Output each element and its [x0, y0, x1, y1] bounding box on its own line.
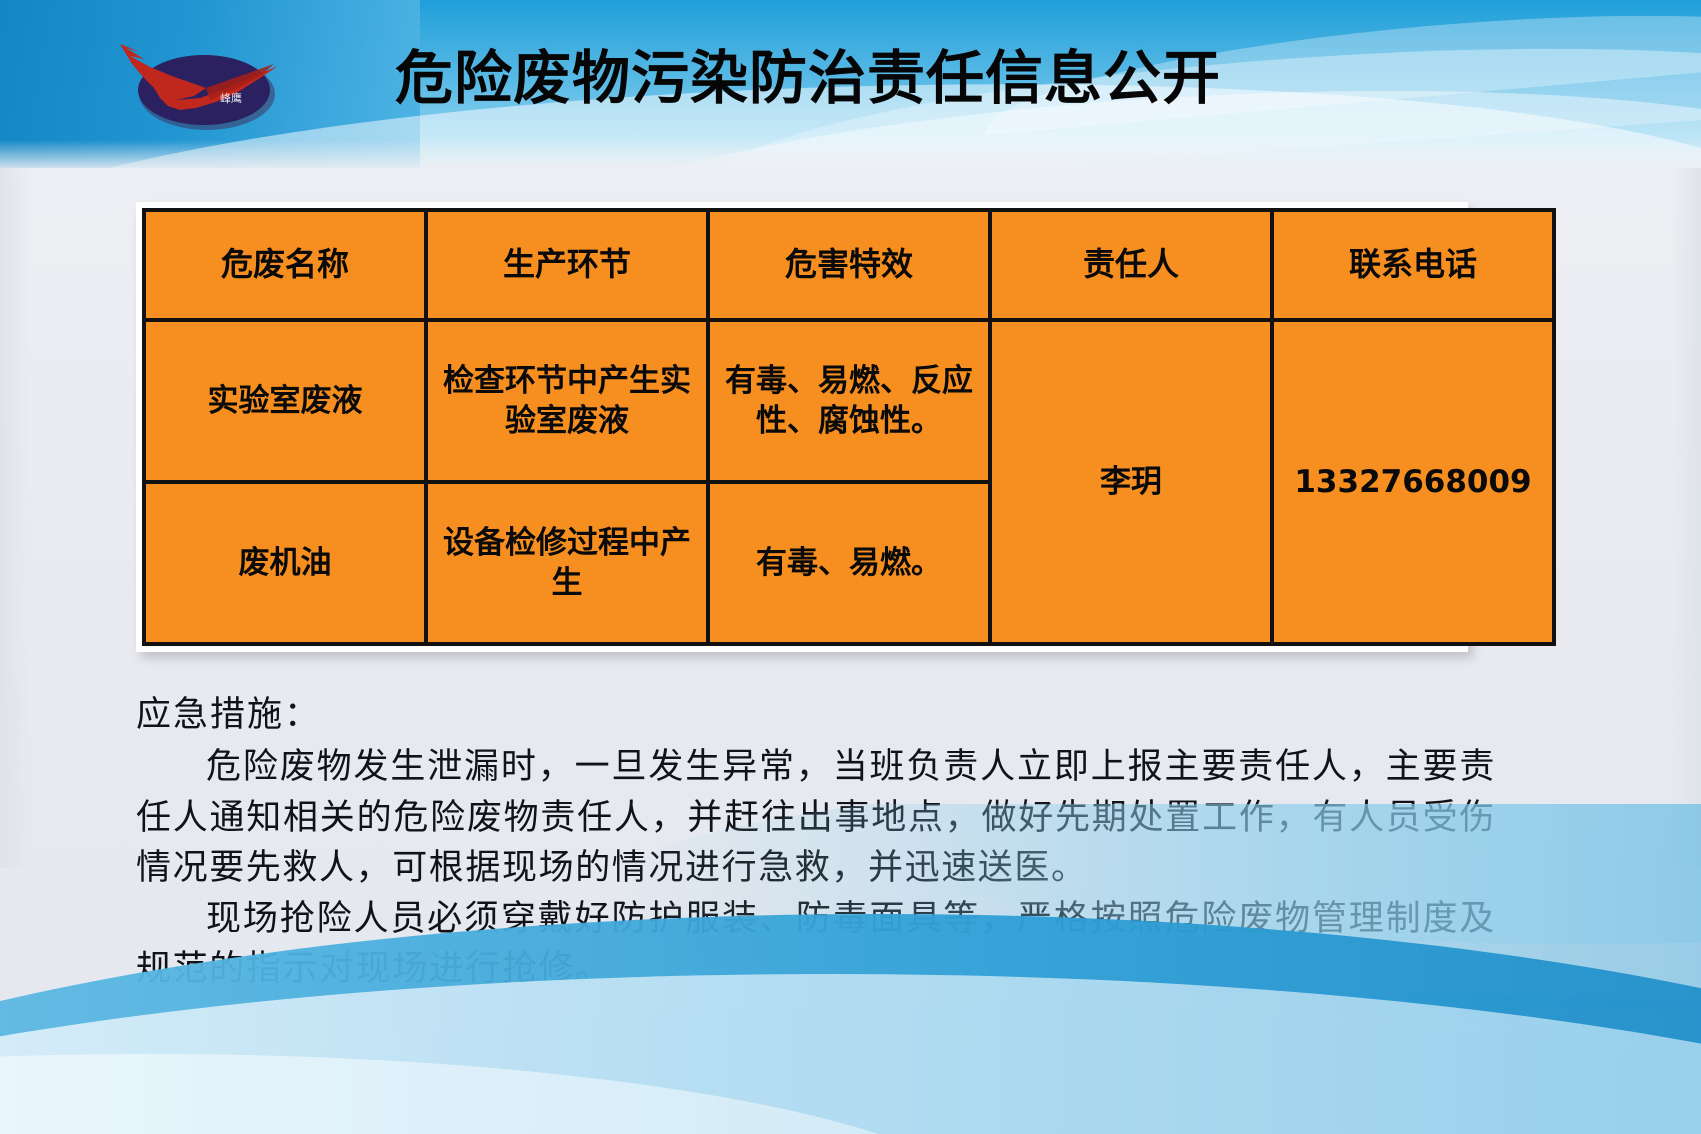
page-title: 危险废物污染防治责任信息公开 [395, 48, 1395, 109]
column-header-process: 生产环节 [426, 210, 708, 320]
cell-hazard-2: 有毒、易燃。 [708, 482, 990, 644]
slide-canvas: 峰鹰 危险废物污染防治责任信息公开 危废名称 生产环节 危害特效 责任人 联系电… [0, 0, 1701, 1134]
waste-table-frame: 危废名称 生产环节 危害特效 责任人 联系电话 实验室废液 检查环节中产生实验室… [136, 202, 1468, 652]
emergency-measures-label: 应急措施： [136, 690, 1496, 740]
footer-wave-f [0, 1054, 1000, 1134]
footer-wave-e [520, 994, 1701, 1134]
cell-person: 李玥 [990, 320, 1272, 644]
cell-hazard-1: 有毒、易燃、反应性、腐蚀性。 [708, 320, 990, 482]
cell-waste-name-1: 实验室废液 [144, 320, 426, 482]
footer-wave-d [140, 1014, 1701, 1134]
footer-wave-b [0, 974, 1701, 1134]
hazardous-waste-table: 危废名称 生产环节 危害特效 责任人 联系电话 实验室废液 检查环节中产生实验室… [142, 208, 1556, 646]
cell-process-2: 设备检修过程中产生 [426, 482, 708, 644]
header-bottom-fade [0, 140, 1701, 168]
cell-phone: 13327668009 [1272, 320, 1554, 644]
emergency-measures-block: 应急措施： 危险废物发生泄漏时，一旦发生异常，当班负责人立即上报主要责任人，主要… [136, 690, 1496, 994]
cell-waste-name-2: 废机油 [144, 482, 426, 644]
page-edge-left [0, 168, 30, 868]
cell-process-1: 检查环节中产生实验室废液 [426, 320, 708, 482]
eagle-logo: 峰鹰 [110, 22, 310, 140]
column-header-hazard: 危害特效 [708, 210, 990, 320]
table-header-row: 危废名称 生产环节 危害特效 责任人 联系电话 [144, 210, 1554, 320]
svg-text:峰鹰: 峰鹰 [220, 91, 242, 105]
table-row: 实验室废液 检查环节中产生实验室废液 有毒、易燃、反应性、腐蚀性。 李玥 133… [144, 320, 1554, 482]
emergency-paragraph-2: 现场抢险人员必须穿戴好防护服装、防毒面具等，严格按照危险废物管理制度及规范的指示… [136, 894, 1496, 995]
column-header-phone: 联系电话 [1272, 210, 1554, 320]
column-header-person: 责任人 [990, 210, 1272, 320]
emergency-paragraph-1: 危险废物发生泄漏时，一旦发生异常，当班负责人立即上报主要责任人，主要责任人通知相… [136, 742, 1496, 893]
column-header-waste-name: 危废名称 [144, 210, 426, 320]
page-edge-right [1671, 168, 1701, 868]
footer-wave-c [0, 1004, 1701, 1134]
